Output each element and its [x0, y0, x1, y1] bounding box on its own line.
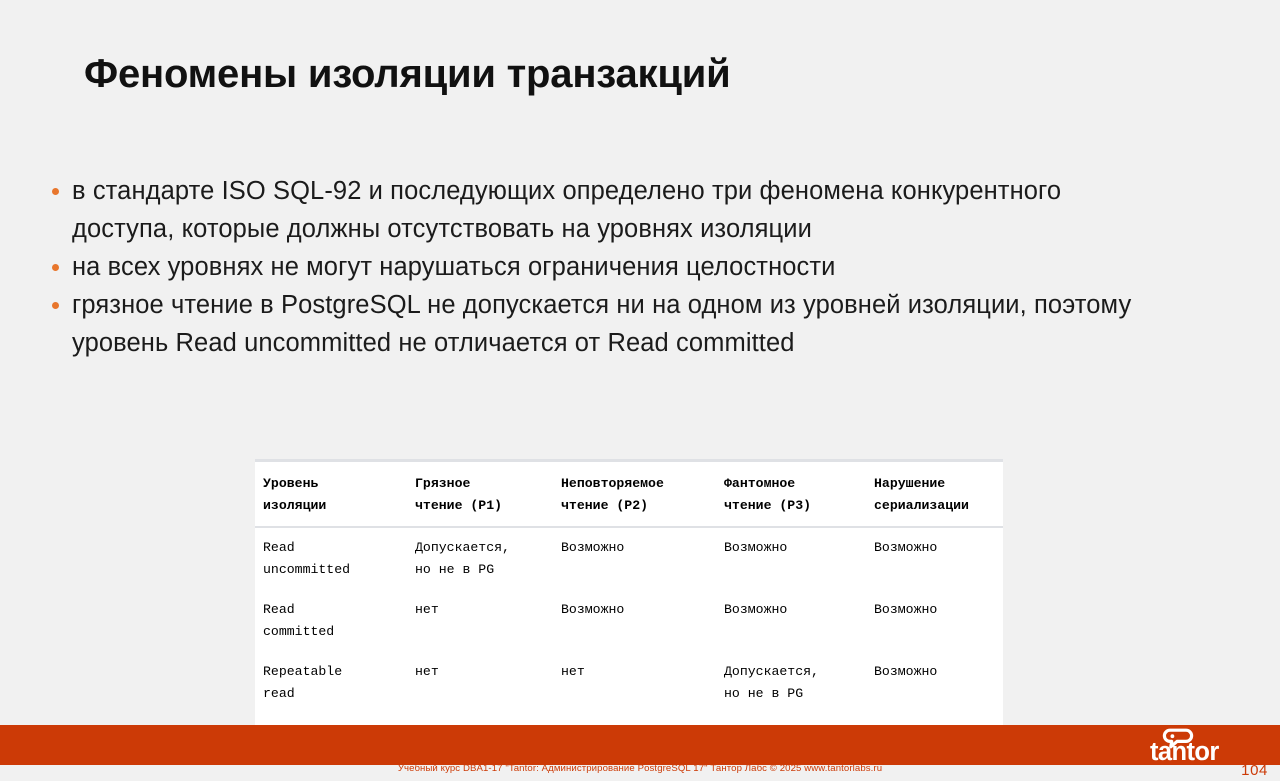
cell-phantom-read: Возможно [716, 590, 866, 652]
footer-bar [0, 725, 1280, 765]
column-header-dirty-read: Грязное чтение (P1) [407, 462, 553, 527]
column-header-nonrepeatable-read: Неповторяемое чтение (P2) [553, 462, 716, 527]
page-number: 104 [1241, 762, 1268, 779]
cell-isolation-level: Read uncommitted [255, 527, 407, 590]
cell-dirty-read: нет [407, 652, 553, 714]
table-row: Read uncommitted Допускается, но не в PG… [255, 527, 1003, 590]
cell-serialization-anomaly: Возможно [866, 590, 1003, 652]
table-header-row: Уровень изоляции Грязное чтение (P1) Неп… [255, 462, 1003, 527]
logo-wordmark: tantor [1150, 738, 1219, 763]
bullet-list: в стандарте ISO SQL-92 и последующих опр… [38, 172, 1148, 362]
slide-canvas: Феномены изоляции транзакций в стандарте… [0, 0, 1280, 781]
cell-nonrepeatable-read: нет [553, 652, 716, 714]
cell-phantom-read: Возможно [716, 527, 866, 590]
cell-serialization-anomaly: Возможно [866, 652, 1003, 714]
bullet-dot-icon [38, 286, 72, 309]
cell-dirty-read: нет [407, 590, 553, 652]
page-title: Феномены изоляции транзакций [84, 52, 731, 97]
tantor-logo: tantor [1150, 727, 1262, 763]
table-row: Read committed нет Возможно Возможно Воз… [255, 590, 1003, 652]
list-item: на всех уровнях не могут нарушаться огра… [38, 248, 1148, 286]
cell-nonrepeatable-read: Возможно [553, 527, 716, 590]
bullet-text: на всех уровнях не могут нарушаться огра… [72, 248, 1148, 286]
isolation-phenomena-table: Уровень изоляции Грязное чтение (P1) Неп… [255, 459, 1003, 760]
bullet-text: в стандарте ISO SQL-92 и последующих опр… [72, 172, 1148, 248]
list-item: в стандарте ISO SQL-92 и последующих опр… [38, 172, 1148, 248]
list-item: грязное чтение в PostgreSQL не допускает… [38, 286, 1148, 362]
bullet-dot-icon [38, 172, 72, 195]
footer-credit-text: Учебный курс DBA1-17 "Tantor: Администри… [0, 763, 1280, 774]
cell-isolation-level: Read committed [255, 590, 407, 652]
cell-isolation-level: Repeatable read [255, 652, 407, 714]
cell-dirty-read: Допускается, но не в PG [407, 527, 553, 590]
cell-serialization-anomaly: Возможно [866, 527, 1003, 590]
column-header-phantom-read: Фантомное чтение (P3) [716, 462, 866, 527]
cell-phantom-read: Допускается, но не в PG [716, 652, 866, 714]
cell-nonrepeatable-read: Возможно [553, 590, 716, 652]
column-header-isolation-level: Уровень изоляции [255, 462, 407, 527]
table-row: Repeatable read нет нет Допускается, но … [255, 652, 1003, 714]
bullet-text: грязное чтение в PostgreSQL не допускает… [72, 286, 1148, 362]
column-header-serialization-anomaly: Нарушение сериализации [866, 462, 1003, 527]
bullet-dot-icon [38, 248, 72, 271]
